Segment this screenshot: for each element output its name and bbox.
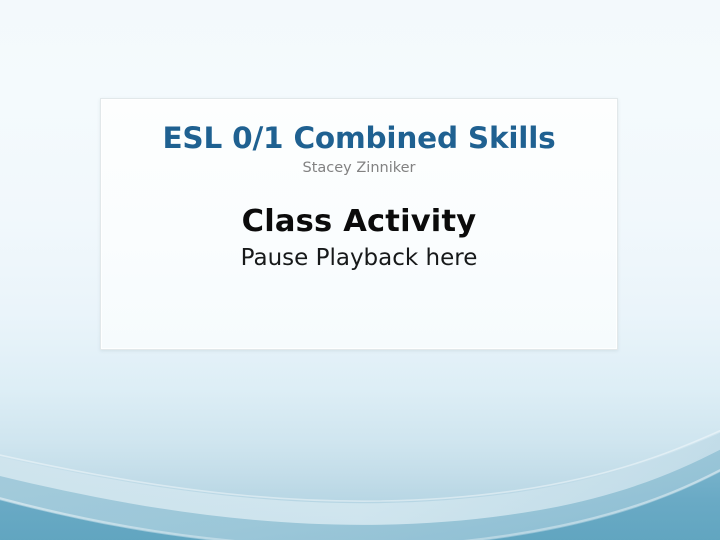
wave-sheen-highlight-secondary (0, 412, 720, 501)
wave-curve-middle (0, 428, 720, 540)
slide-heading: Class Activity (101, 177, 617, 239)
wave-curve-main (0, 450, 720, 540)
wave-curve-upper (0, 414, 720, 540)
wave-sheen-highlight (0, 448, 720, 540)
slide-subtitle-author: Stacey Zinniker (101, 155, 617, 177)
slide-text-stack: ESL 0/1 Combined Skills Stacey Zinniker … (101, 99, 617, 272)
slide-content-box: ESL 0/1 Combined Skills Stacey Zinniker … (100, 98, 618, 350)
slide-title: ESL 0/1 Combined Skills (101, 99, 617, 155)
presentation-slide: ESL 0/1 Combined Skills Stacey Zinniker … (0, 0, 720, 540)
slide-caption-instruction: Pause Playback here (101, 238, 617, 271)
